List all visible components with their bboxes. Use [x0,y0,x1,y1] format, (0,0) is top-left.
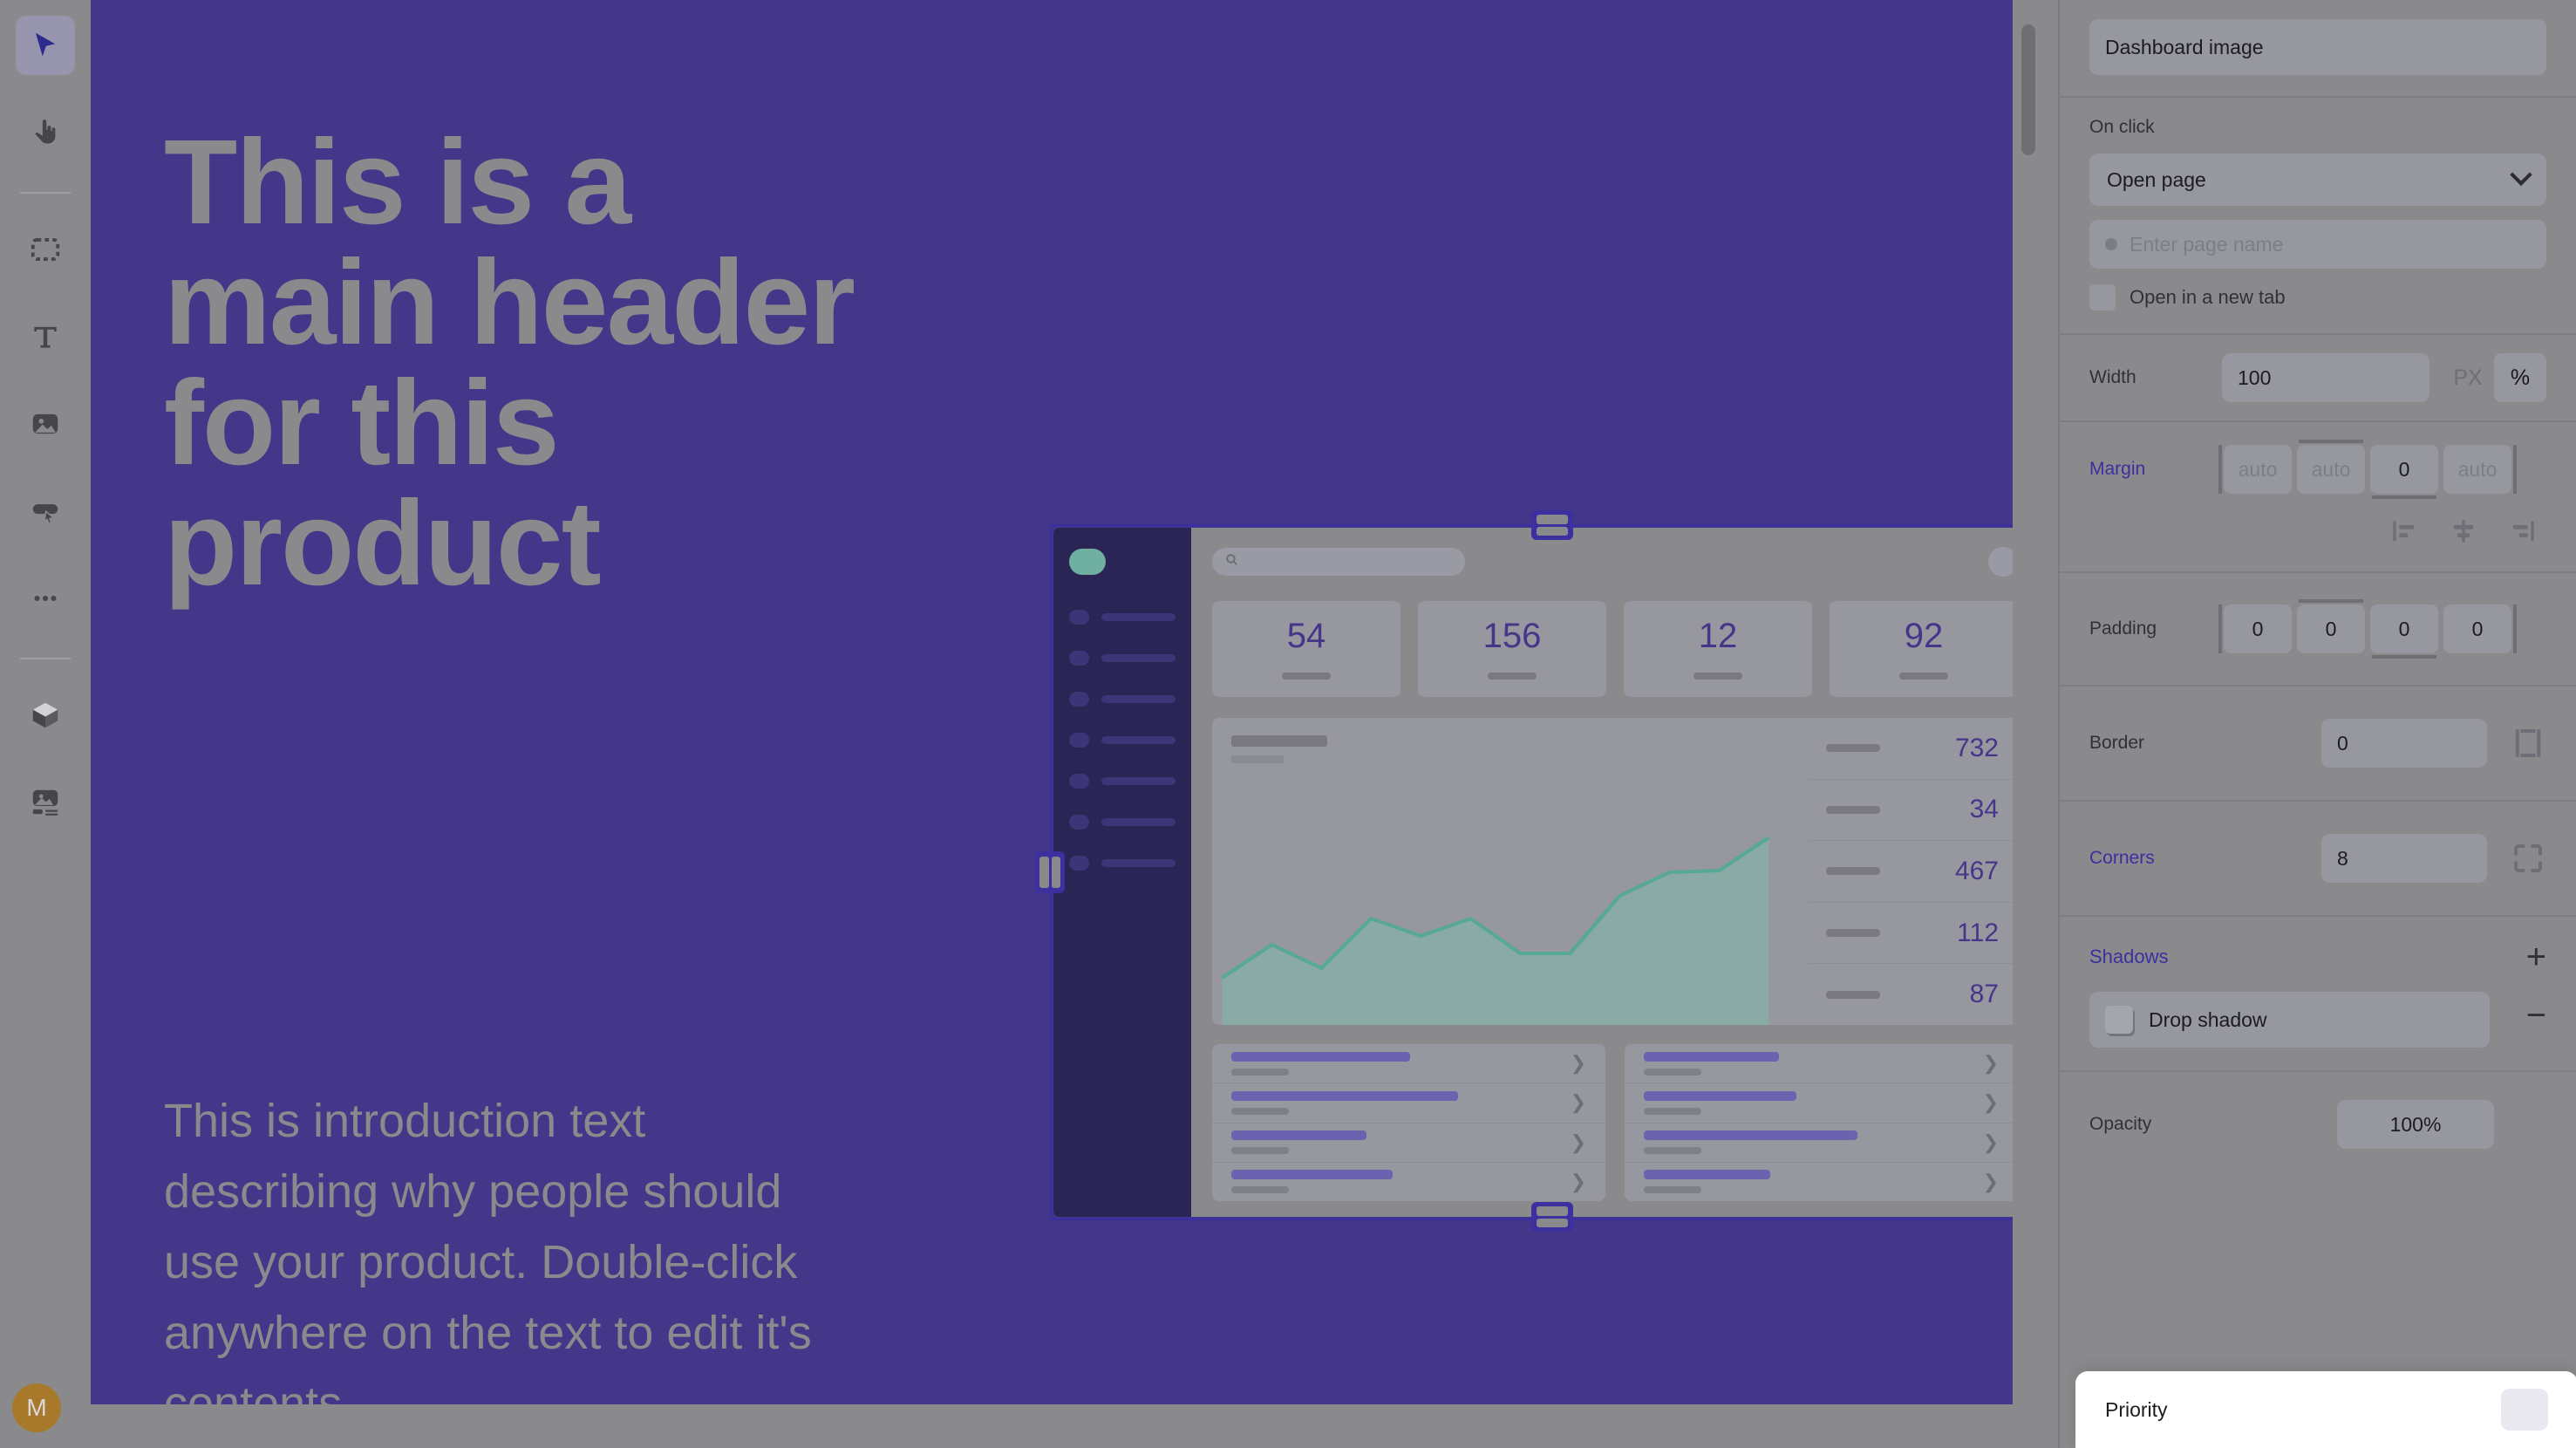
padding-right-input[interactable]: 0 [2443,604,2511,653]
chevron-right-icon: ❯ [1983,1093,1999,1112]
width-unit-percent[interactable]: % [2494,353,2546,402]
shadows-label: Shadows [2089,946,2169,968]
mock-side-list-label [1826,929,1880,937]
mock-nav-dot [1069,692,1089,707]
shadows-section: Shadows + Drop shadow − [2060,917,2576,1072]
mock-nav-dot [1069,733,1089,748]
cursor-arrow-icon [29,29,62,62]
mock-stat-card: 54 [1212,601,1400,697]
button-cursor-icon [29,495,62,528]
text-t-icon [29,320,62,353]
mock-nav-item [1069,815,1176,830]
border-label: Border [2089,733,2211,754]
mock-stat-card: 156 [1418,601,1606,697]
new-tab-label: Open in a new tab [2130,286,2286,309]
on-click-section: On click Open page Enter page name Open … [2060,98,2576,335]
mock-nav-item [1069,856,1176,871]
mock-nav-label [1101,613,1176,621]
corners-section: Corners 8 [2060,802,2576,917]
opacity-label: Opacity [2089,1114,2211,1135]
mock-nav-dot [1069,856,1089,871]
mock-stat-value: 156 [1483,618,1542,653]
more-tool[interactable] [16,569,75,628]
mock-chart-svg [1212,789,1809,1025]
mock-side-list-row: 112 [1809,903,2013,965]
mock-stat-label [1693,673,1742,680]
properties-panel: Dashboard image On click Open page Enter… [2058,0,2576,1448]
mock-nav-label [1101,695,1176,703]
chevron-right-icon: ❯ [1571,1172,1586,1192]
mock-logo [1069,549,1106,575]
mock-side-list-label [1826,806,1880,814]
mock-area-chart [1212,718,1809,1025]
margin-align-buttons [2089,516,2546,571]
mock-side-list-row: 467 [1809,841,2013,903]
mock-side-list-value: 732 [1955,734,1999,763]
page-dot-icon [2105,238,2117,250]
mock-stat-label [1282,673,1331,680]
mock-nav-label [1101,859,1176,867]
margin-inputs: auto auto 0 auto [2224,445,2517,494]
width-section: Width 100 PX % [2060,335,2576,422]
design-canvas[interactable]: This is a main header for this product T… [91,0,2013,1404]
border-sides-icon[interactable] [2510,725,2546,762]
text-tool[interactable] [16,307,75,366]
mock-side-list-value: 34 [1970,795,1999,824]
resize-handle-top[interactable] [1531,510,1573,540]
avatar-initial: M [26,1394,46,1422]
priority-bar: Priority [2075,1371,2576,1448]
left-toolbar: M [0,0,91,1448]
mock-list-item: ❯ [1625,1083,2013,1123]
mock-nav-item [1069,692,1176,707]
hero-heading[interactable]: This is a main header for this product [164,122,896,604]
select-tool[interactable] [16,16,75,75]
new-tab-row: Open in a new tab [2089,284,2546,311]
hero-paragraph[interactable]: This is introduction text describing why… [164,1086,862,1404]
media-card-tool[interactable] [16,773,75,832]
margin-left-input[interactable]: auto [2224,445,2292,494]
margin-right-input[interactable]: auto [2443,445,2511,494]
mock-side-list-value: 87 [1970,980,1999,1009]
button-tool[interactable] [16,482,75,541]
add-shadow-button[interactable]: + [2526,939,2546,974]
priority-toggle[interactable] [2501,1389,2548,1431]
mock-bottom-left-card: ❯ ❯ ❯ ❯ [1212,1044,1605,1201]
mock-search-input [1212,548,1465,576]
mock-nav-label [1101,654,1176,662]
mock-side-list-value: 112 [1957,919,1999,948]
mock-side-list-value: 467 [1955,857,1999,886]
margin-bottom-input[interactable]: 0 [2370,445,2438,494]
hand-tool[interactable] [16,103,75,162]
padding-bottom-input[interactable]: 0 [2370,604,2438,653]
toolbar-divider-2 [20,658,71,659]
mock-chart-title [1231,735,1327,747]
shadow-item: Drop shadow [2089,992,2490,1048]
mock-nav-label [1101,777,1176,785]
mock-nav-item [1069,610,1176,625]
chevron-right-icon: ❯ [1571,1133,1586,1152]
chevron-right-icon: ❯ [1983,1054,1999,1073]
mock-nav-item [1069,651,1176,666]
mock-stat-card: 92 [1830,601,2013,697]
mock-list-item: ❯ [1212,1044,1605,1083]
image-tool[interactable] [16,394,75,454]
mock-nav-item [1069,733,1176,748]
resize-handle-bottom[interactable] [1531,1202,1573,1232]
padding-top-input[interactable]: 0 [2297,604,2365,653]
align-center-icon[interactable] [2449,516,2478,550]
mock-nav-item [1069,774,1176,789]
page-name-placeholder: Enter page name [2130,233,2283,256]
mock-list-item: ❯ [1212,1124,1605,1163]
priority-label: Priority [2105,1398,2168,1422]
hand-pointer-icon [29,116,62,149]
mock-bottom-row: ❯ ❯ ❯ ❯ ❯ ❯ ❯ ❯ [1212,1044,2013,1217]
opacity-section: Opacity 100% [2060,1072,2576,1177]
mock-main: 54 156 12 92 [1191,528,2013,1217]
mock-stat-value: 12 [1699,618,1738,653]
mock-side-list-label [1826,744,1880,752]
corners-label: Corners [2089,848,2211,869]
mock-list-item: ❯ [1625,1163,2013,1201]
mock-topbar [1212,547,2013,577]
chevron-right-icon: ❯ [1983,1172,1999,1192]
image-icon [29,407,62,441]
border-section: Border 0 [2060,686,2576,802]
mock-nav-dot [1069,774,1089,789]
padding-left-input[interactable]: 0 [2224,604,2292,653]
drop-shadow-label: Drop shadow [2149,1008,2267,1032]
mock-list-item: ❯ [1625,1124,2013,1163]
mock-side-list: 732 34 467 112 87 [1809,718,2013,1025]
chevron-right-icon: ❯ [1571,1054,1586,1073]
mock-side-list-row: 87 [1809,964,2013,1025]
corners-input[interactable]: 8 [2321,834,2487,883]
drop-shadow-checkbox[interactable] [2105,1006,2133,1034]
mock-sidebar [1053,528,1191,1217]
margin-top-input[interactable]: auto [2297,445,2365,494]
mock-nav-dot [1069,610,1089,625]
mock-stat-label [1899,673,1948,680]
mock-side-list-row: 34 [1809,780,2013,842]
align-right-icon[interactable] [2508,516,2538,550]
mock-side-list-label [1826,867,1880,875]
mock-nav-label [1101,818,1176,826]
dashed-box-icon [29,233,62,266]
padding-section: Padding 0 0 0 0 [2060,573,2576,686]
width-label: Width [2089,367,2211,388]
dashboard-image[interactable]: 54 156 12 92 [1053,528,2013,1217]
align-left-icon[interactable] [2389,516,2419,550]
mock-stat-row: 54 156 12 92 [1212,601,2013,697]
border-input[interactable]: 0 [2321,719,2487,768]
chevron-down-icon [2510,164,2532,186]
margin-label: Margin [2089,459,2211,480]
width-unit-px[interactable]: PX [2442,353,2494,402]
search-icon [1224,552,1239,571]
margin-section: Margin auto auto 0 auto [2060,422,2576,573]
mock-nav-label [1101,736,1176,744]
element-name-section: Dashboard image [2060,0,2576,98]
ellipsis-icon [29,582,62,615]
mock-stat-value: 92 [1905,618,1944,653]
panel-scrollbar[interactable] [2021,24,2035,155]
component-tool[interactable] [16,686,75,745]
container-tool[interactable] [16,220,75,279]
on-click-label: On click [2089,117,2546,138]
chevron-right-icon: ❯ [1983,1133,1999,1152]
mock-list-item: ❯ [1212,1083,1605,1123]
mock-side-list-row: 732 [1809,718,2013,780]
mock-avatar [1988,547,2013,577]
mock-list-item: ❯ [1212,1163,1605,1201]
mock-stat-label [1488,673,1537,680]
remove-shadow-button[interactable]: − [2526,998,2546,1033]
mock-nav-dot [1069,651,1089,666]
padding-inputs: 0 0 0 0 [2224,604,2517,653]
page-name-input[interactable]: Enter page name [2089,220,2546,269]
user-avatar[interactable]: M [12,1383,61,1432]
on-click-action-value: Open page [2107,168,2206,192]
app-root: M This is a main header for this product… [0,0,2576,1448]
mock-stat-card: 12 [1624,601,1812,697]
width-input[interactable]: 100 [2222,353,2429,402]
new-tab-checkbox[interactable] [2089,284,2116,311]
resize-handle-left[interactable] [1035,851,1065,893]
toolbar-divider-1 [20,192,71,194]
mock-stat-value: 54 [1287,618,1326,653]
on-click-action-select[interactable]: Open page [2089,154,2546,206]
corners-sides-icon[interactable] [2510,840,2546,877]
chevron-right-icon: ❯ [1571,1093,1586,1112]
mock-list-item: ❯ [1625,1044,2013,1083]
mock-mid-row: 732 34 467 112 87 [1212,718,2013,1025]
mock-bottom-right-card: ❯ ❯ ❯ ❯ [1625,1044,2013,1201]
element-name-input[interactable]: Dashboard image [2089,19,2546,75]
opacity-input[interactable]: 100% [2337,1100,2494,1149]
cube-3d-icon [29,699,62,732]
mock-chart-subtitle [1231,755,1284,763]
mock-nav-dot [1069,815,1089,830]
image-card-icon [29,786,62,819]
mock-side-list-label [1826,991,1880,999]
padding-label: Padding [2089,618,2211,639]
